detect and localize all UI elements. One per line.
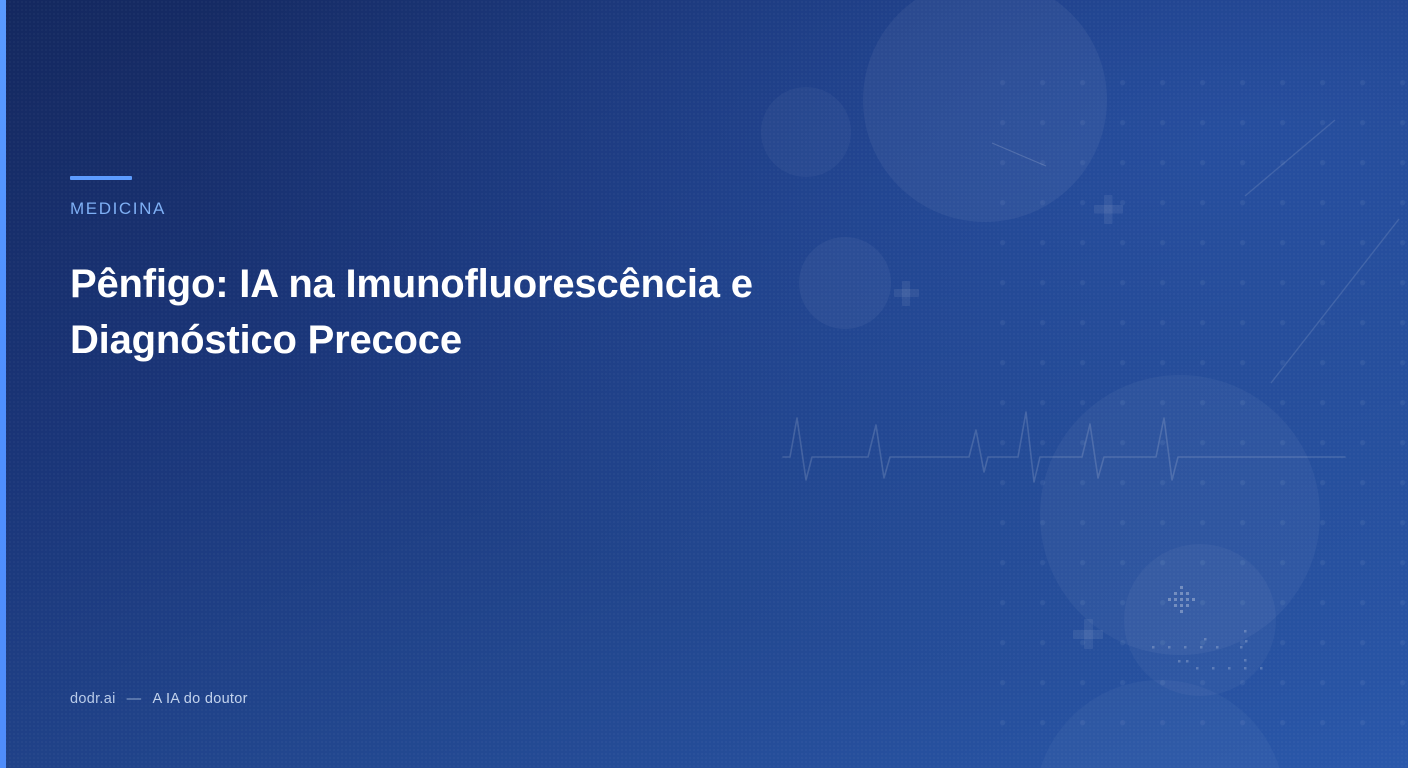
kicker-rule (70, 176, 132, 180)
category-label: MEDICINA (70, 199, 166, 219)
brand-name: dodr.ai (70, 691, 116, 707)
slide-title: Pênfigo: IA na Imunofluorescência e Diag… (70, 256, 800, 368)
slide-footer: dodr.ai — A IA do doutor (70, 691, 248, 707)
left-accent-bar (0, 0, 6, 768)
brand-tagline: A IA do doutor (152, 691, 247, 707)
presentation-slide: MEDICINA Pênfigo: IA na Imunofluorescênc… (0, 0, 1408, 768)
plus-mid-icon (894, 281, 919, 306)
footer-separator: — (127, 691, 142, 707)
circle-bottom-inner (1124, 544, 1276, 696)
slide-content: MEDICINA Pênfigo: IA na Imunofluorescênc… (70, 0, 830, 768)
